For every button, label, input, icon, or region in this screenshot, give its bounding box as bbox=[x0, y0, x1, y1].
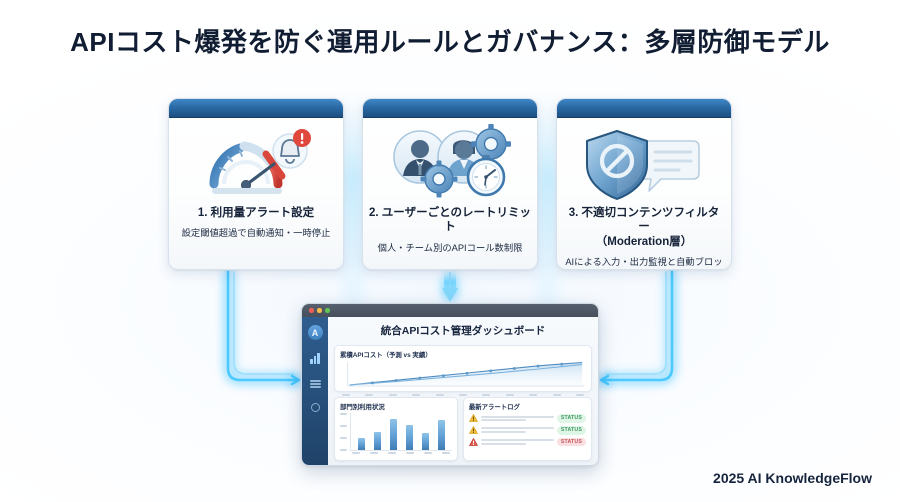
alert-text-placeholder bbox=[481, 416, 554, 422]
shield-block-chat-icon bbox=[557, 118, 731, 206]
window-titlebar[interactable] bbox=[302, 304, 598, 317]
card-header-bar bbox=[363, 99, 537, 118]
card-header-bar bbox=[557, 99, 731, 118]
panel-cumulative-cost[interactable]: 累積APIコスト（予測 vs 実績） bbox=[334, 345, 592, 392]
dashboard-bottom-row: 部門別利用状況 bbox=[334, 397, 592, 461]
card-rate-limit[interactable]: 2. ユーザーごとのレートリミット 個人・チーム別のAPIコール数制限 bbox=[362, 98, 538, 270]
dashboard-content: 統合APIコスト管理ダッシュボード 累積APIコスト（予測 vs 実績） bbox=[328, 317, 598, 466]
alert-row[interactable]: STATUS bbox=[469, 426, 586, 435]
bar bbox=[358, 438, 365, 450]
card-title: 2. ユーザーごとのレートリミット bbox=[363, 206, 537, 235]
card-header-bar bbox=[169, 99, 343, 118]
status-badge: STATUS bbox=[557, 414, 586, 423]
footer-brand: 2025 AI KnowledgeFlow bbox=[713, 470, 872, 486]
list-icon[interactable] bbox=[308, 375, 323, 388]
card-title-line2: （Moderation層） bbox=[596, 236, 692, 248]
dashboard-window[interactable]: A 統合APIコスト管理ダッシュボード 累積APIコスト（予測 vs 実績） bbox=[301, 303, 599, 466]
card-subtitle: 設定閾値超過で自動通知・一時停止 bbox=[176, 227, 337, 239]
panel-department-usage[interactable]: 部門別利用状況 bbox=[334, 397, 458, 461]
panel-title: 最新アラートログ bbox=[469, 402, 586, 411]
dashboard-title: 統合APIコスト管理ダッシュボード bbox=[334, 322, 592, 340]
x-axis-ticks bbox=[340, 452, 452, 454]
card-subtitle: AIによる入力・出力監視と自動ブロック bbox=[557, 256, 731, 270]
alert-text-placeholder bbox=[481, 439, 554, 445]
zoom-icon[interactable] bbox=[325, 308, 330, 313]
card-moderation[interactable]: 3. 不適切コンテンツフィルター （Moderation層） AIによる入力・出… bbox=[556, 98, 732, 270]
users-gear-stopwatch-icon bbox=[363, 118, 537, 206]
gear-icon[interactable] bbox=[308, 399, 323, 412]
warning-icon bbox=[469, 414, 478, 422]
status-badge: STATUS bbox=[557, 426, 586, 435]
critical-warning-icon bbox=[469, 438, 478, 446]
line-chart bbox=[340, 361, 586, 396]
alert-row[interactable]: STATUS bbox=[469, 414, 586, 423]
panel-title: 部門別利用状況 bbox=[340, 402, 452, 411]
bar bbox=[390, 419, 397, 450]
gauge-alert-icon bbox=[169, 118, 343, 206]
y-axis-ticks bbox=[340, 413, 347, 451]
minimize-icon[interactable] bbox=[317, 308, 322, 313]
warning-icon bbox=[469, 426, 478, 434]
card-title: 1. 利用量アラート設定 bbox=[192, 206, 320, 220]
bar bbox=[422, 433, 429, 450]
status-badge: STATUS bbox=[557, 438, 586, 447]
bar bbox=[438, 420, 445, 450]
panel-title: 累積APIコスト（予測 vs 実績） bbox=[340, 350, 586, 359]
panel-alert-log[interactable]: 最新アラートログ STATUS bbox=[463, 397, 592, 461]
dashboard-sidebar[interactable]: A bbox=[302, 317, 328, 466]
card-title: 3. 不適切コンテンツフィルター （Moderation層） bbox=[557, 206, 731, 249]
card-subtitle: 個人・チーム別のAPIコール数制限 bbox=[372, 242, 529, 254]
card-usage-alert[interactable]: 1. 利用量アラート設定 設定閾値超過で自動通知・一時停止 bbox=[168, 98, 344, 270]
slide-canvas: APIコスト爆発を防ぐ運用ルールとガバナンス：多層防御モデル bbox=[0, 0, 900, 502]
x-axis-ticks bbox=[340, 394, 586, 396]
card-title-line1: 3. 不適切コンテンツフィルター bbox=[569, 207, 720, 233]
bar bbox=[374, 432, 381, 451]
alert-text-placeholder bbox=[481, 427, 554, 433]
bar bbox=[406, 425, 413, 450]
bar-plot-area bbox=[350, 413, 452, 451]
alert-row[interactable]: STATUS bbox=[469, 438, 586, 447]
app-logo-icon[interactable]: A bbox=[308, 325, 323, 340]
window-body: A 統合APIコスト管理ダッシュボード 累積APIコスト（予測 vs 実績） bbox=[302, 317, 598, 466]
close-icon[interactable] bbox=[309, 308, 314, 313]
bar-chart bbox=[340, 413, 452, 451]
page-title: APIコスト爆発を防ぐ運用ルールとガバナンス：多層防御モデル bbox=[0, 22, 900, 59]
bar-chart-icon[interactable] bbox=[308, 351, 323, 364]
